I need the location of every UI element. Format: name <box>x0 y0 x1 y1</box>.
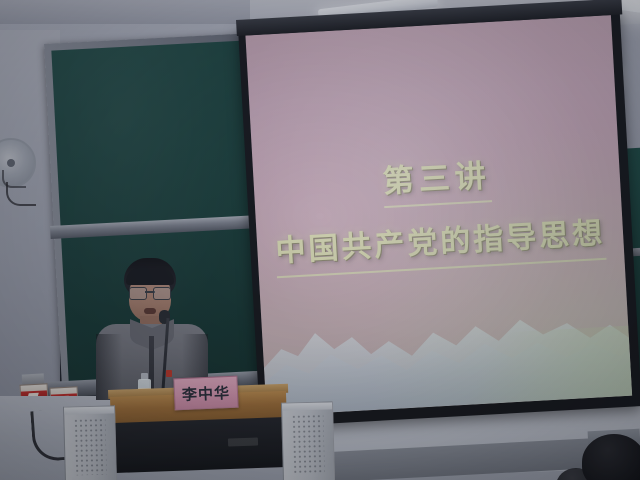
ceiling-panel-left <box>0 0 250 26</box>
loudspeaker-left <box>63 405 117 480</box>
slide-title-line-2: 中国共产党的指导思想 <box>274 208 606 278</box>
podium-logo <box>228 437 258 446</box>
lecture-hall-photo: 第三讲 中国共产党的指导思想 <box>0 0 640 480</box>
fan-cable <box>2 170 26 188</box>
projection-screen: 第三讲 中国共产党的指导思想 <box>238 7 640 428</box>
glasses-icon <box>129 287 171 298</box>
slide-title-line-1: 第三讲 <box>381 150 492 208</box>
slide-green-tint <box>427 326 632 407</box>
podium-base <box>114 417 284 473</box>
name-placard-text: 李中华 <box>182 381 231 404</box>
speaker-top <box>64 406 114 414</box>
loudspeaker-right <box>281 401 335 480</box>
projected-slide: 第三讲 中国共产党的指导思想 <box>245 15 632 416</box>
lapel-badge <box>166 370 172 377</box>
name-placard: 李中华 <box>173 376 238 411</box>
mouth <box>144 308 156 314</box>
slide-heading-row: 第三讲 <box>253 143 621 215</box>
hair-fringe <box>126 268 174 285</box>
speaker-grille <box>291 414 325 476</box>
slide-subheading-row: 中国共产党的指导思想 <box>256 207 624 279</box>
speaker-grille <box>73 418 106 476</box>
speaker-top <box>282 402 332 410</box>
